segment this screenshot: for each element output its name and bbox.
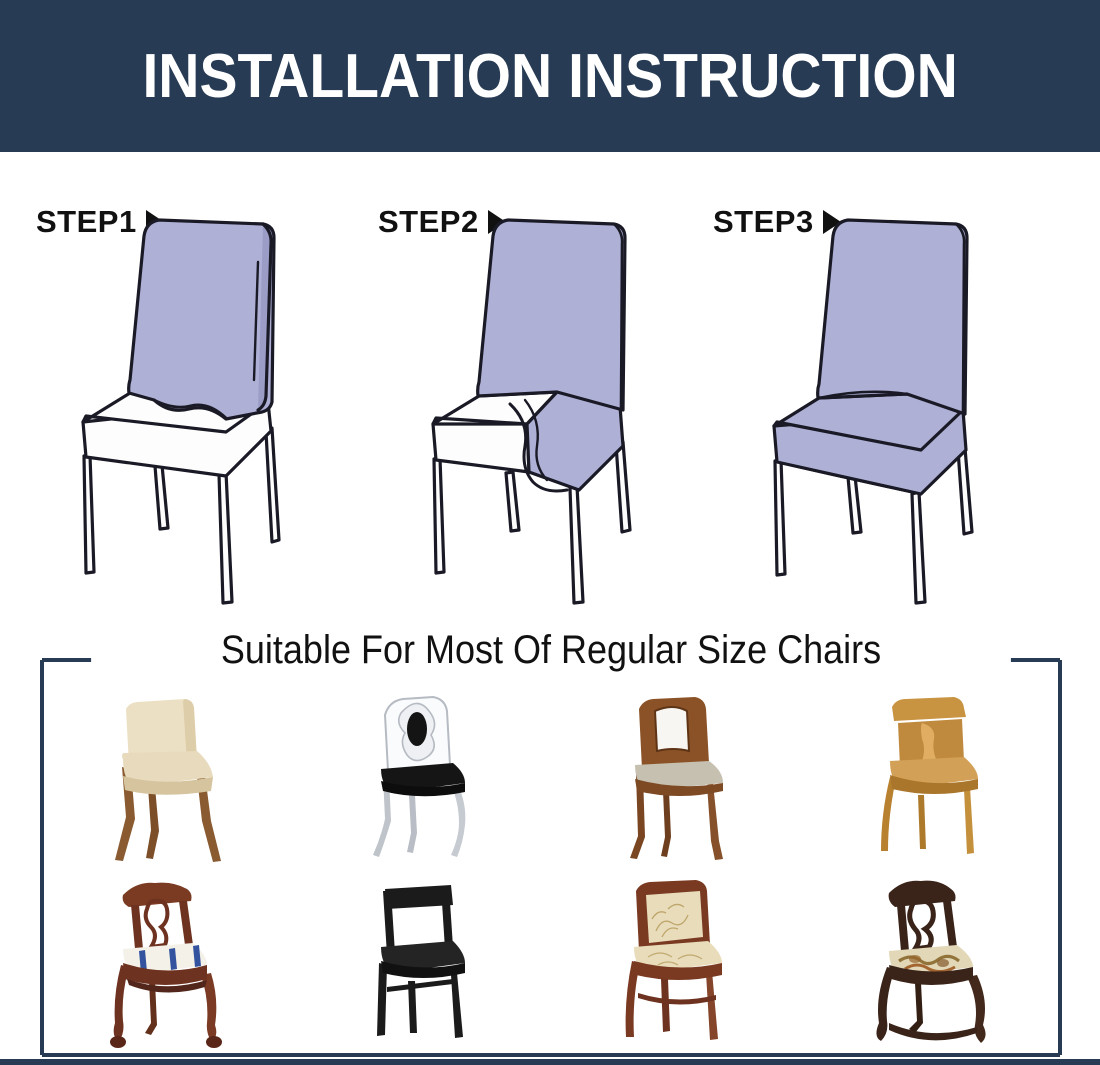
chair-cell-mahogany-chippendale-chair xyxy=(40,870,296,1054)
chair-cell-cream-parsons-chair xyxy=(40,686,296,870)
chair-cell-mahogany-floral-chair xyxy=(551,870,807,1054)
step-panel-3: STEP3 xyxy=(685,152,1051,622)
bottom-accent-strip xyxy=(0,1059,1100,1065)
suitable-title: Suitable For Most Of Regular Size Chairs xyxy=(91,628,1011,673)
steps-row: STEP1 xyxy=(0,152,1100,622)
step-panel-1: STEP1 xyxy=(0,152,366,622)
chair-cell-antique-tapestry-chair xyxy=(807,870,1063,1054)
step-panel-2: STEP2 xyxy=(345,152,711,622)
step-3-illustration xyxy=(747,210,1047,610)
chair-cell-silver-baroque-chair xyxy=(296,686,552,870)
chair-grid xyxy=(40,686,1062,1054)
header-banner: INSTALLATION INSTRUCTION xyxy=(0,0,1100,152)
step-2-illustration xyxy=(407,210,707,610)
page-title: INSTALLATION INSTRUCTION xyxy=(142,41,957,112)
chair-cell-oak-vase-splat-chair xyxy=(807,686,1063,870)
step-1-illustration xyxy=(58,210,358,610)
chair-cell-walnut-keyhole-chair xyxy=(551,686,807,870)
suitable-section: Suitable For Most Of Regular Size Chairs xyxy=(40,658,1062,1057)
chair-cell-black-slat-back-chair xyxy=(296,870,552,1054)
